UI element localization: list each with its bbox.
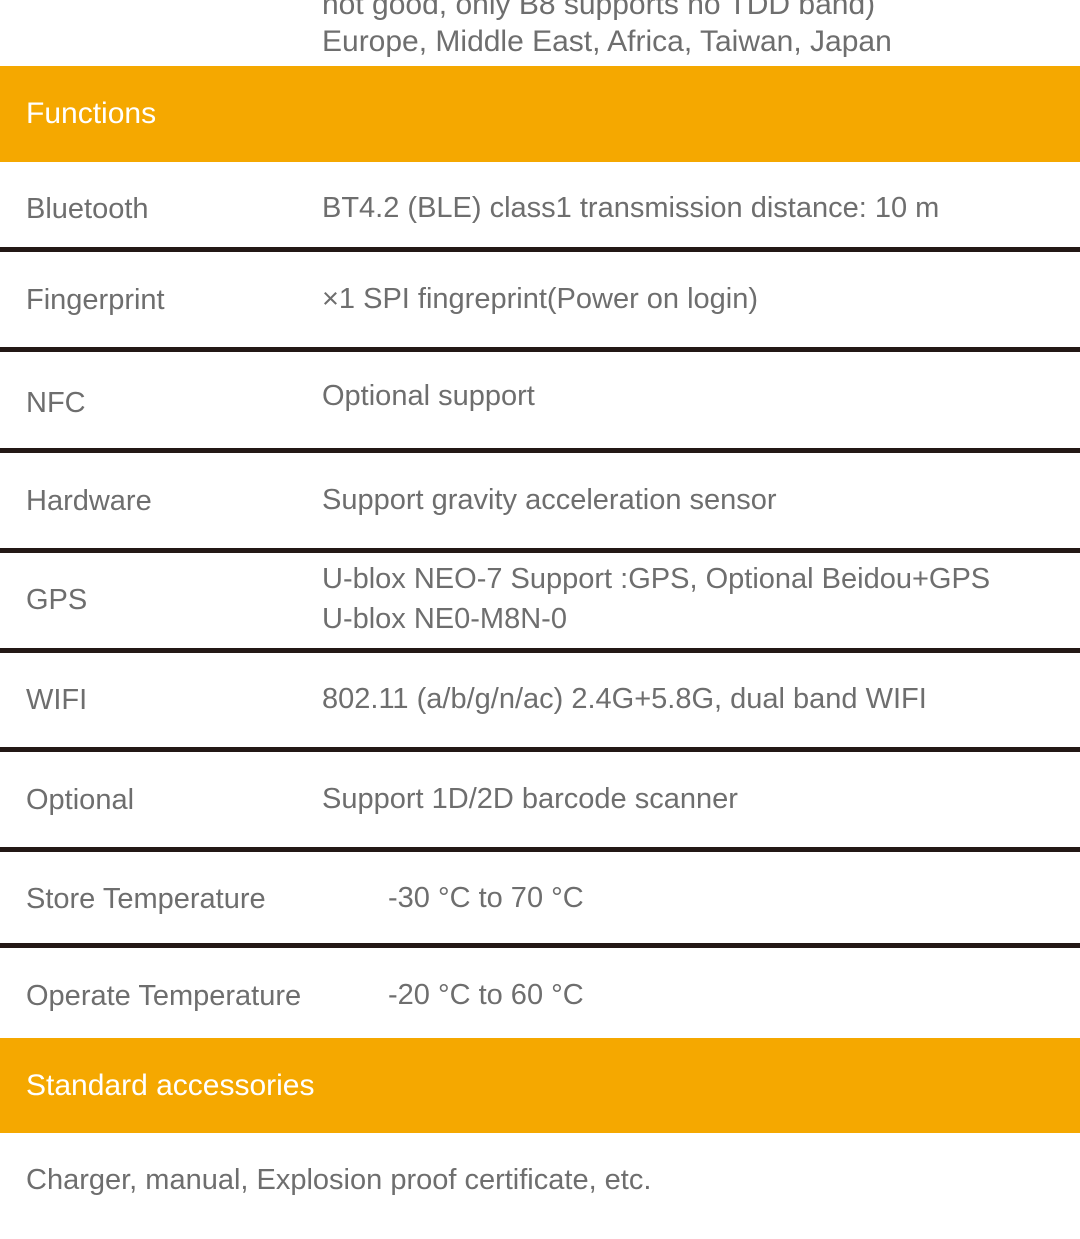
row-value-wifi: 802.11 (a/b/g/n/ac) 2.4G+5.8G, dual band… xyxy=(322,679,927,720)
section-header-functions-label: Functions xyxy=(0,97,156,131)
standard-accessories-content-row: Charger, manual, Explosion proof certifi… xyxy=(0,1133,1080,1239)
row-label-optional: Optional xyxy=(26,783,134,817)
row-value-operate-temperature: -20 °C to 60 °C xyxy=(388,975,584,1016)
row-value-fingerprint: ×1 SPI fingreprint(Power on login) xyxy=(322,279,758,320)
table-row-nfc: NFC Optional support xyxy=(0,352,1080,448)
section-header-standard-accessories-label: Standard accessories xyxy=(0,1069,315,1103)
row-value-gps-line-2: U-blox NE0-M8N-0 xyxy=(322,599,567,640)
table-row-wifi: WIFI 802.11 (a/b/g/n/ac) 2.4G+5.8G, dual… xyxy=(0,653,1080,747)
table-row-fingerprint: Fingerprint ×1 SPI fingreprint(Power on … xyxy=(0,252,1080,347)
row-label-hardware: Hardware xyxy=(26,484,152,518)
row-value-optional: Support 1D/2D barcode scanner xyxy=(322,779,738,820)
top-overflow-text: not good, only B8 supports no TDD band) … xyxy=(0,0,1080,66)
row-label-operate-temperature: Operate Temperature xyxy=(26,979,301,1013)
row-label-nfc: NFC xyxy=(26,386,86,420)
section-header-standard-accessories: Standard accessories xyxy=(0,1038,1080,1133)
table-row-gps: GPS U-blox NEO-7 Support :GPS, Optional … xyxy=(0,553,1080,648)
table-row-store-temperature: Store Temperature -30 °C to 70 °C xyxy=(0,852,1080,943)
row-label-bluetooth: Bluetooth xyxy=(26,192,149,226)
row-label-store-temperature: Store Temperature xyxy=(26,882,266,916)
section-header-functions: Functions xyxy=(0,66,1080,162)
specification-table: not good, only B8 supports no TDD band) … xyxy=(0,0,1080,1239)
row-value-nfc: Optional support xyxy=(322,376,535,417)
table-row-bluetooth: Bluetooth BT4.2 (BLE) class1 transmissio… xyxy=(0,162,1080,247)
row-value-gps-line-1: U-blox NEO-7 Support :GPS, Optional Beid… xyxy=(322,559,990,600)
table-row-hardware: Hardware Support gravity acceleration se… xyxy=(0,453,1080,548)
row-label-fingerprint: Fingerprint xyxy=(26,283,165,317)
overflow-line-2: Europe, Middle East, Africa, Taiwan, Jap… xyxy=(322,21,892,62)
table-row-optional: Optional Support 1D/2D barcode scanner xyxy=(0,752,1080,847)
standard-accessories-content: Charger, manual, Explosion proof certifi… xyxy=(26,1163,651,1197)
row-label-gps: GPS xyxy=(26,583,87,617)
row-value-bluetooth: BT4.2 (BLE) class1 transmission distance… xyxy=(322,188,939,229)
row-label-wifi: WIFI xyxy=(26,683,87,717)
row-value-hardware: Support gravity acceleration sensor xyxy=(322,480,777,521)
table-row-operate-temperature: Operate Temperature -20 °C to 60 °C xyxy=(0,948,1080,1038)
row-value-store-temperature: -30 °C to 70 °C xyxy=(388,878,584,919)
